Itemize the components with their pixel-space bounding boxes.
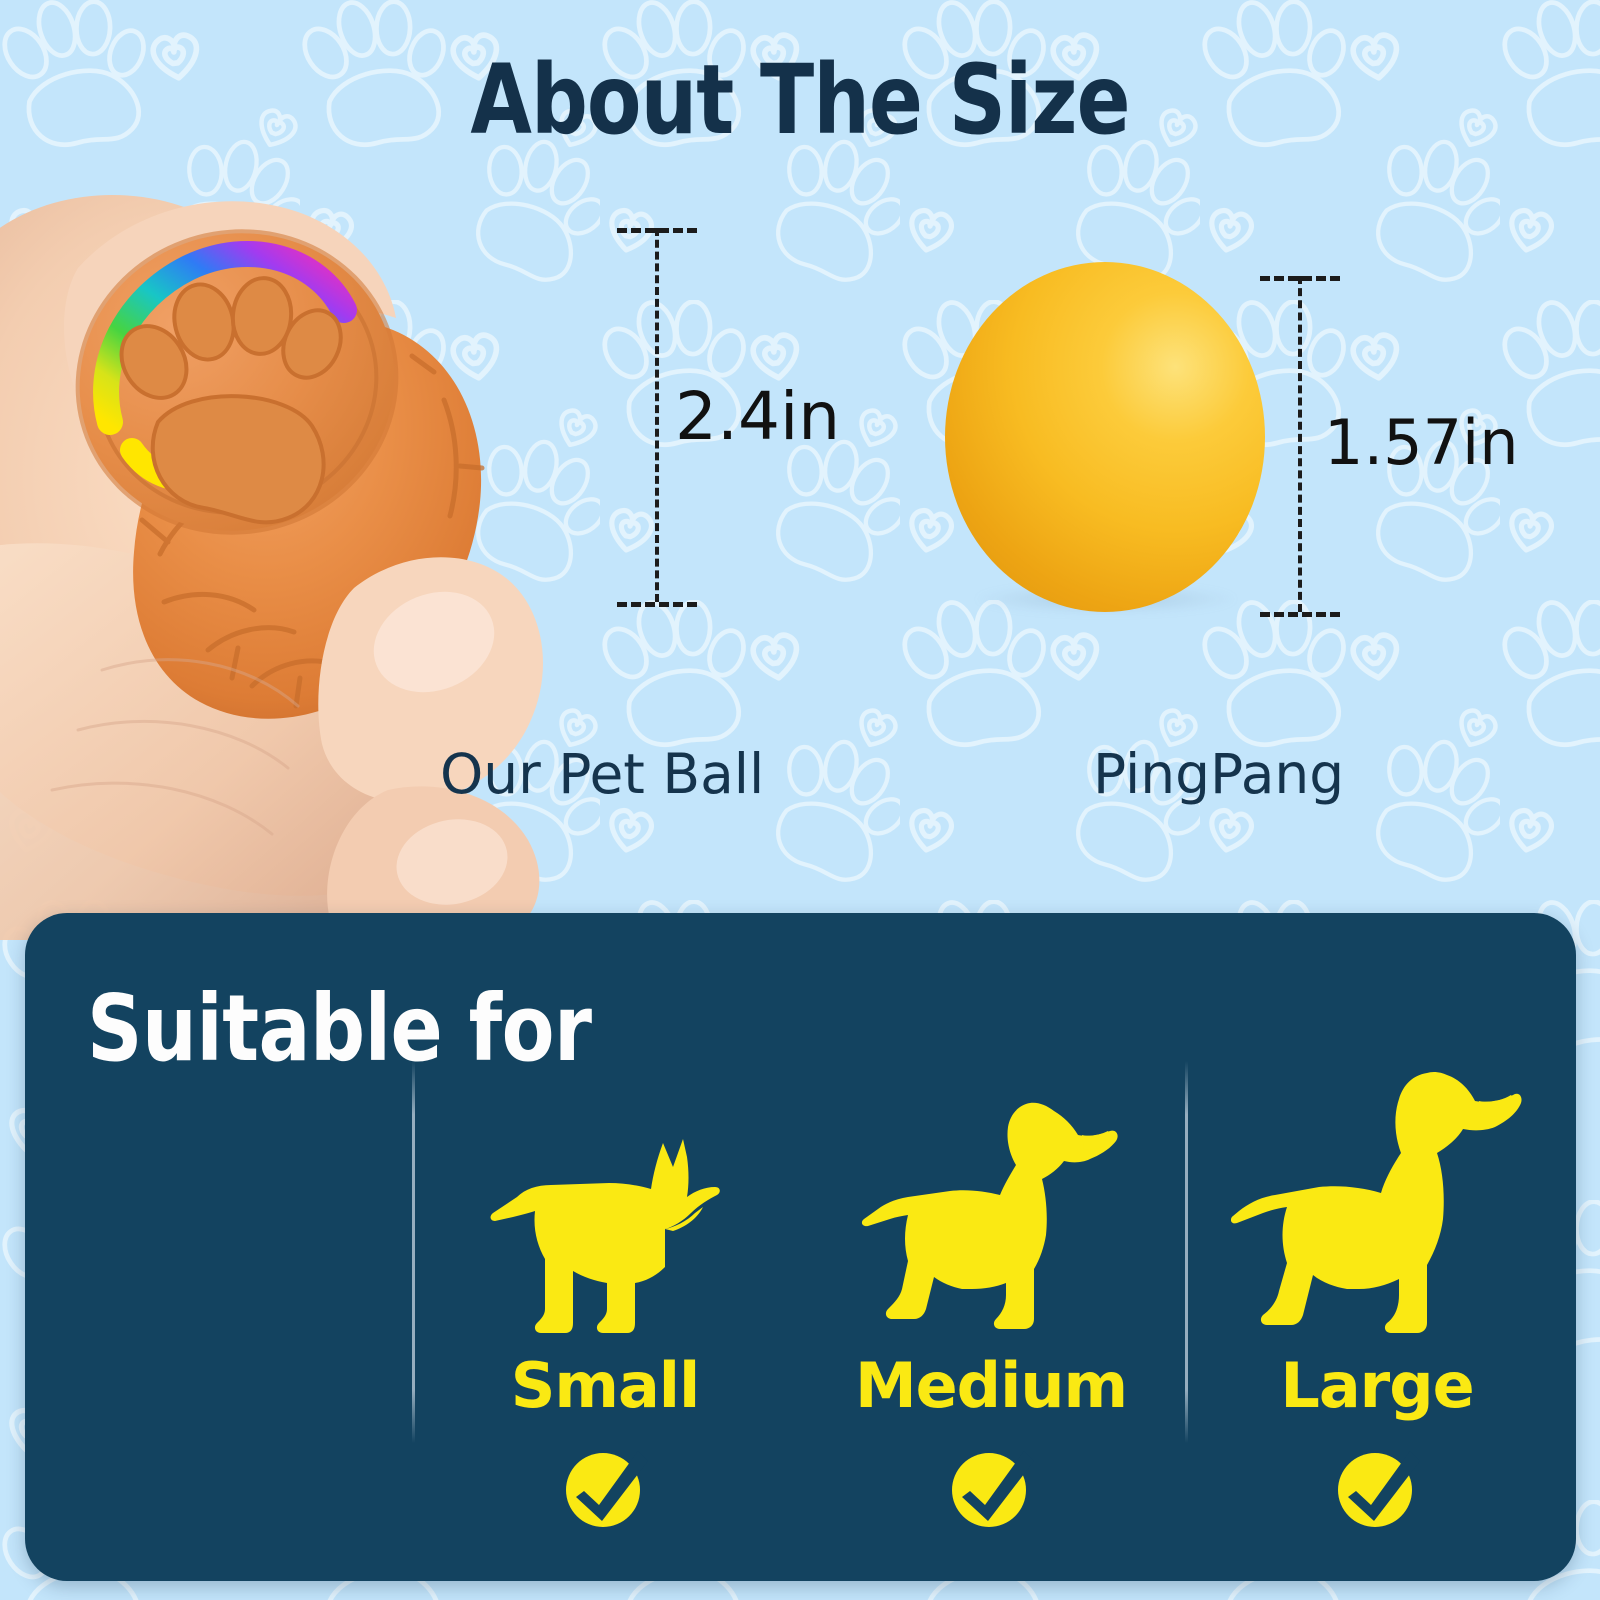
caption-pingpang: PingPang: [1093, 742, 1344, 806]
dimension-cap-top: [1260, 276, 1340, 281]
dimension-line: [655, 228, 659, 602]
checkmark-medium-icon: [948, 1443, 1034, 1531]
caption-pet-ball: Our Pet Ball: [440, 742, 764, 806]
check-slot-small: [412, 1443, 798, 1531]
hand-holding-pet-ball-photo: [0, 150, 622, 940]
checkmark-small-icon: [562, 1443, 648, 1531]
check-slot-large: [1184, 1443, 1570, 1531]
dimension-label-pet-ball: 2.4in: [675, 378, 840, 455]
pingpang-sphere: [945, 262, 1265, 612]
dimension-line: [1298, 276, 1302, 612]
size-column-medium: Medium: [798, 1043, 1184, 1563]
dimension-label-pingpang: 1.57in: [1324, 406, 1519, 479]
infographic-root: About The Size: [0, 0, 1600, 1600]
dog-large-icon: [1231, 1069, 1523, 1341]
dimension-cap-bottom: [1260, 612, 1340, 617]
size-column-large: Large: [1184, 1043, 1570, 1563]
page-title: About The Size: [64, 44, 1536, 156]
pingpang-ball: [945, 262, 1265, 612]
dimension-cap-top: [617, 228, 697, 233]
checkmark-large-icon: [1334, 1443, 1420, 1531]
size-label-small: Small: [412, 1349, 798, 1422]
check-slot-medium: [798, 1443, 1184, 1531]
suitable-for-panel: Suitable for Small: [25, 913, 1576, 1581]
dog-medium-icon: [860, 1099, 1122, 1341]
dimension-cap-bottom: [617, 602, 697, 607]
dog-small-slot: [412, 1061, 798, 1341]
dog-large-slot: [1184, 1031, 1570, 1341]
size-label-medium: Medium: [798, 1349, 1184, 1422]
dog-medium-slot: [798, 1043, 1184, 1341]
size-label-large: Large: [1184, 1349, 1570, 1422]
dog-small-icon: [487, 1133, 723, 1341]
size-column-small: Small: [412, 1043, 798, 1563]
